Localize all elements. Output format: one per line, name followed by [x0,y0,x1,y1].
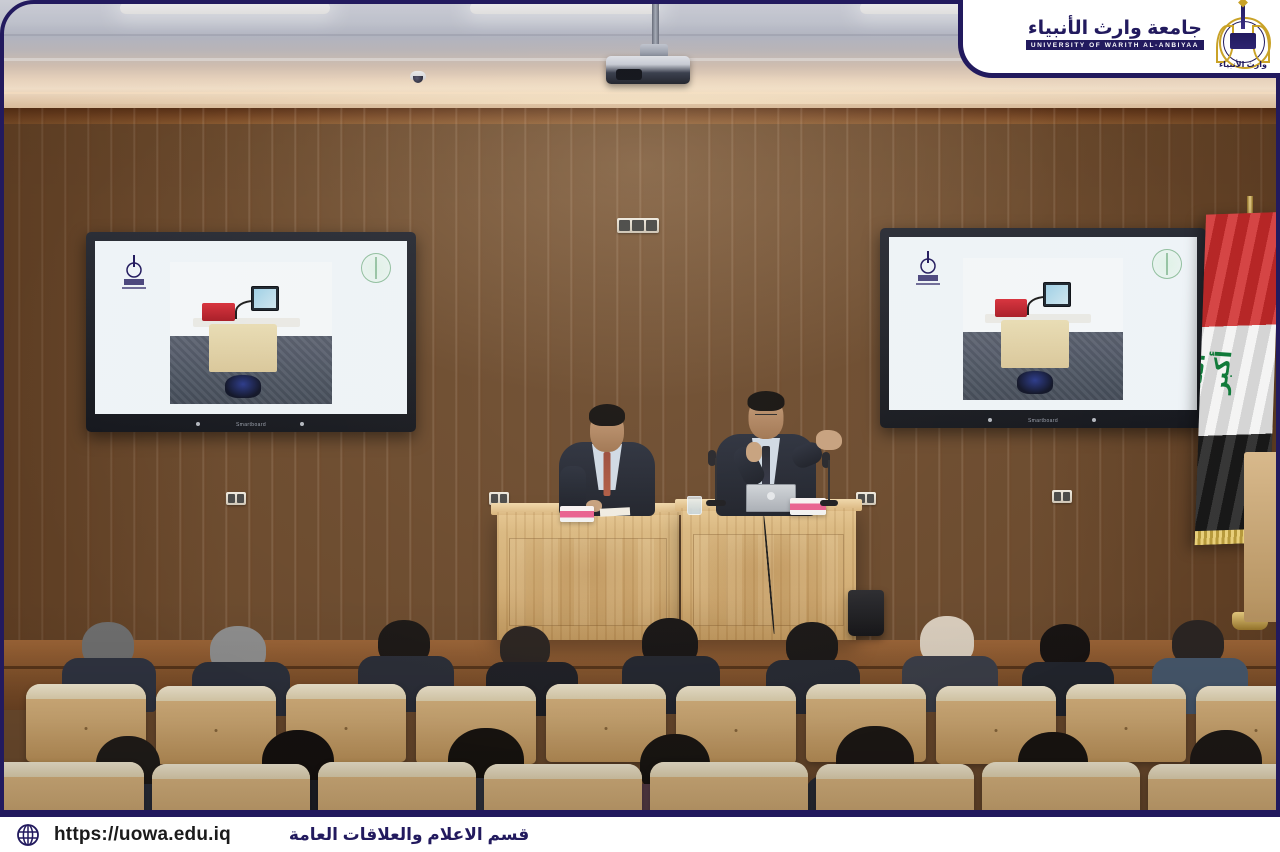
crest-label-arabic: وارث الأنبياء [1219,60,1267,69]
wall-socket-icon [226,492,246,505]
mic-neck [715,458,717,502]
slide-monitor [1043,282,1071,307]
wall-socket-icon [1052,490,1072,503]
display-brand-label: Smartboard [236,422,266,428]
panel-speaker-left [552,404,662,516]
display-indicator [300,422,304,426]
ceiling-light [120,2,330,14]
slide-photo [170,262,332,404]
website-url[interactable]: https://uowa.edu.iq [54,824,231,846]
gooseneck-microphone [706,450,726,506]
side-cabinet [1244,452,1280,622]
display-screen [889,237,1197,410]
tissue-box [560,506,594,522]
display-indicator [988,418,992,422]
wordmark-english: UNIVERSITY OF WARITH AL-ANBIYAA [1026,40,1204,50]
mic-base [706,500,726,506]
speaker-arm [560,466,586,510]
header-brand-banner: جامعة وارث الأنبياء UNIVERSITY OF WARITH… [958,0,1280,78]
auditorium-seat [156,686,276,764]
ceiling-light [470,2,660,14]
slide-desk [209,324,277,372]
display-indicator [196,422,200,426]
speaker-tie [604,452,611,496]
display-indicator [1092,418,1096,422]
university-crest-icon [117,253,151,295]
department-label: قسم الاعلام والعلاقات العامة [289,825,529,845]
university-crest-icon [911,249,945,291]
papers [600,507,630,517]
university-crest-icon: وارث الأنبياء [1214,3,1272,71]
display-brand-label: Smartboard [1028,418,1058,424]
presentation-display-right: Smartboard [880,228,1206,428]
slide-monitor [251,286,279,311]
footer-brand-bar: https://uowa.edu.iq قسم الاعلام والعلاقا… [0,810,1280,852]
presentation-display-left: Smartboard [86,232,416,432]
wordmark-arabic: جامعة وارث الأنبياء [1028,19,1202,38]
speaker-hand-right [816,430,842,450]
slide-bag [225,375,261,398]
green-seal-icon [361,253,391,283]
slide-photo [963,258,1123,400]
slide-desk [1001,320,1068,368]
slide-red-case [995,299,1027,317]
ceiling-projector-icon [606,56,690,84]
event-photograph: Smartboard [0,0,1280,852]
display-screen [95,241,407,414]
crest-minaret [1241,3,1245,29]
mic-neck [828,460,830,502]
mic-base [820,500,838,506]
gooseneck-microphone [820,452,838,506]
eyeglasses-icon [755,414,777,419]
dome-camera-icon [410,71,426,80]
university-wordmark: جامعة وارث الأنبياء UNIVERSITY OF WARITH… [1026,19,1204,54]
speaker-hand-left [746,442,762,462]
crest-book [1230,33,1256,49]
slide-bag [1017,371,1052,394]
slide-red-case [202,303,234,321]
event-photo-card: Smartboard [0,0,1280,852]
laptop [746,484,796,512]
wall-socket-icon [617,218,659,233]
globe-icon [16,823,40,847]
speaker-hair [589,404,625,426]
speaker-hair [748,391,785,411]
green-seal-icon [1152,249,1182,279]
water-glass [687,496,702,515]
